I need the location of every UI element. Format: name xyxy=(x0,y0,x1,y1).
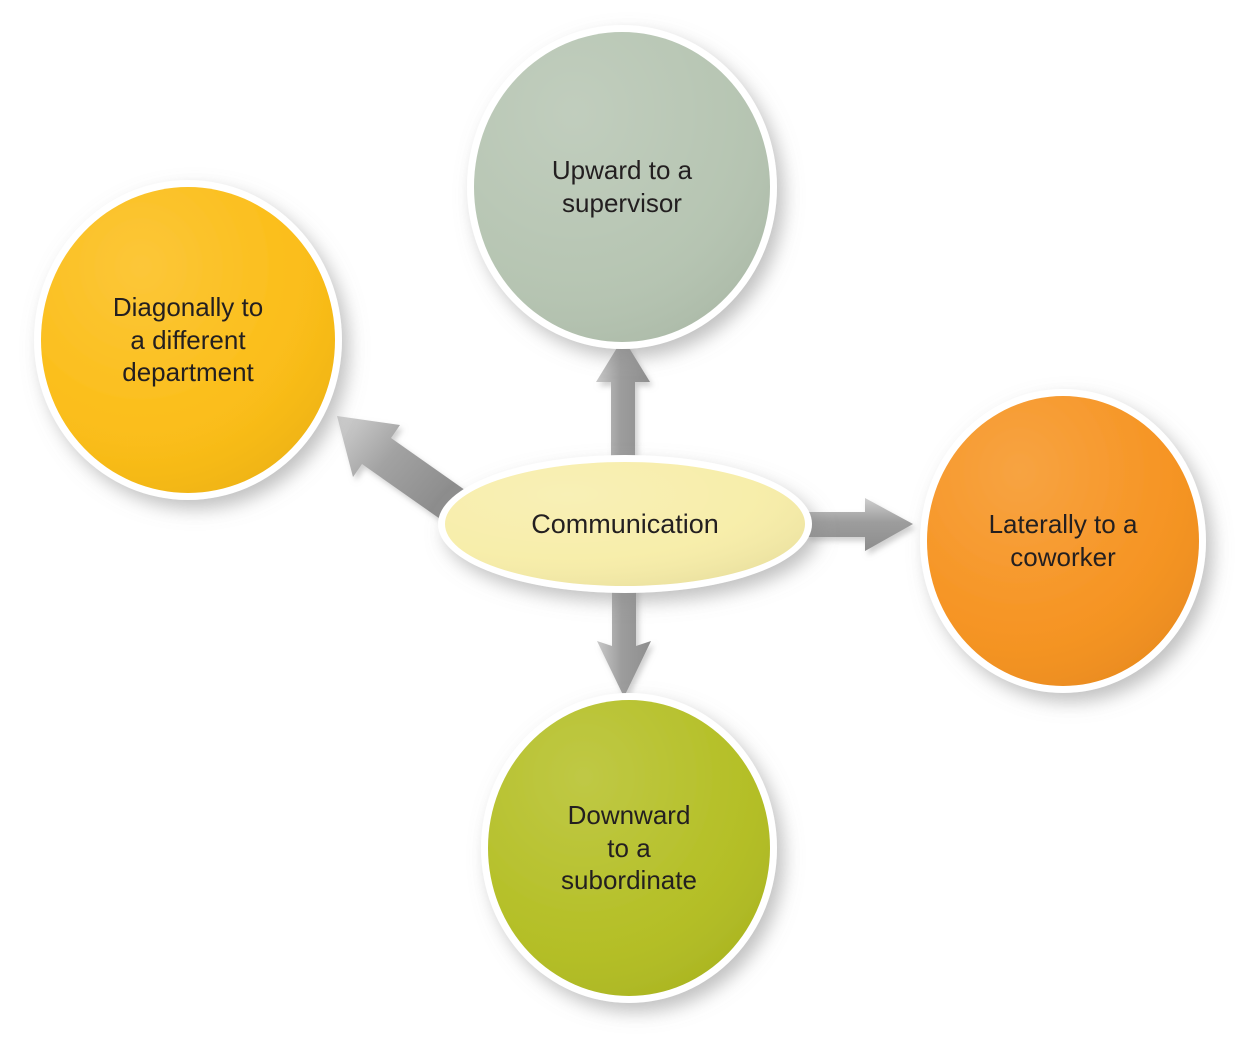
node-communication[interactable] xyxy=(438,455,812,593)
node-diagonal[interactable] xyxy=(34,180,342,500)
node-lateral[interactable] xyxy=(920,389,1206,693)
node-downward[interactable] xyxy=(481,693,777,1003)
diagram-graphics-layer xyxy=(0,0,1254,1038)
arrow-right xyxy=(806,498,913,551)
arrow-up xyxy=(596,338,650,470)
node-upward[interactable] xyxy=(467,25,777,349)
communication-diagram: Upward to a supervisor Diagonally to a d… xyxy=(0,0,1254,1038)
arrow-down xyxy=(597,580,651,697)
